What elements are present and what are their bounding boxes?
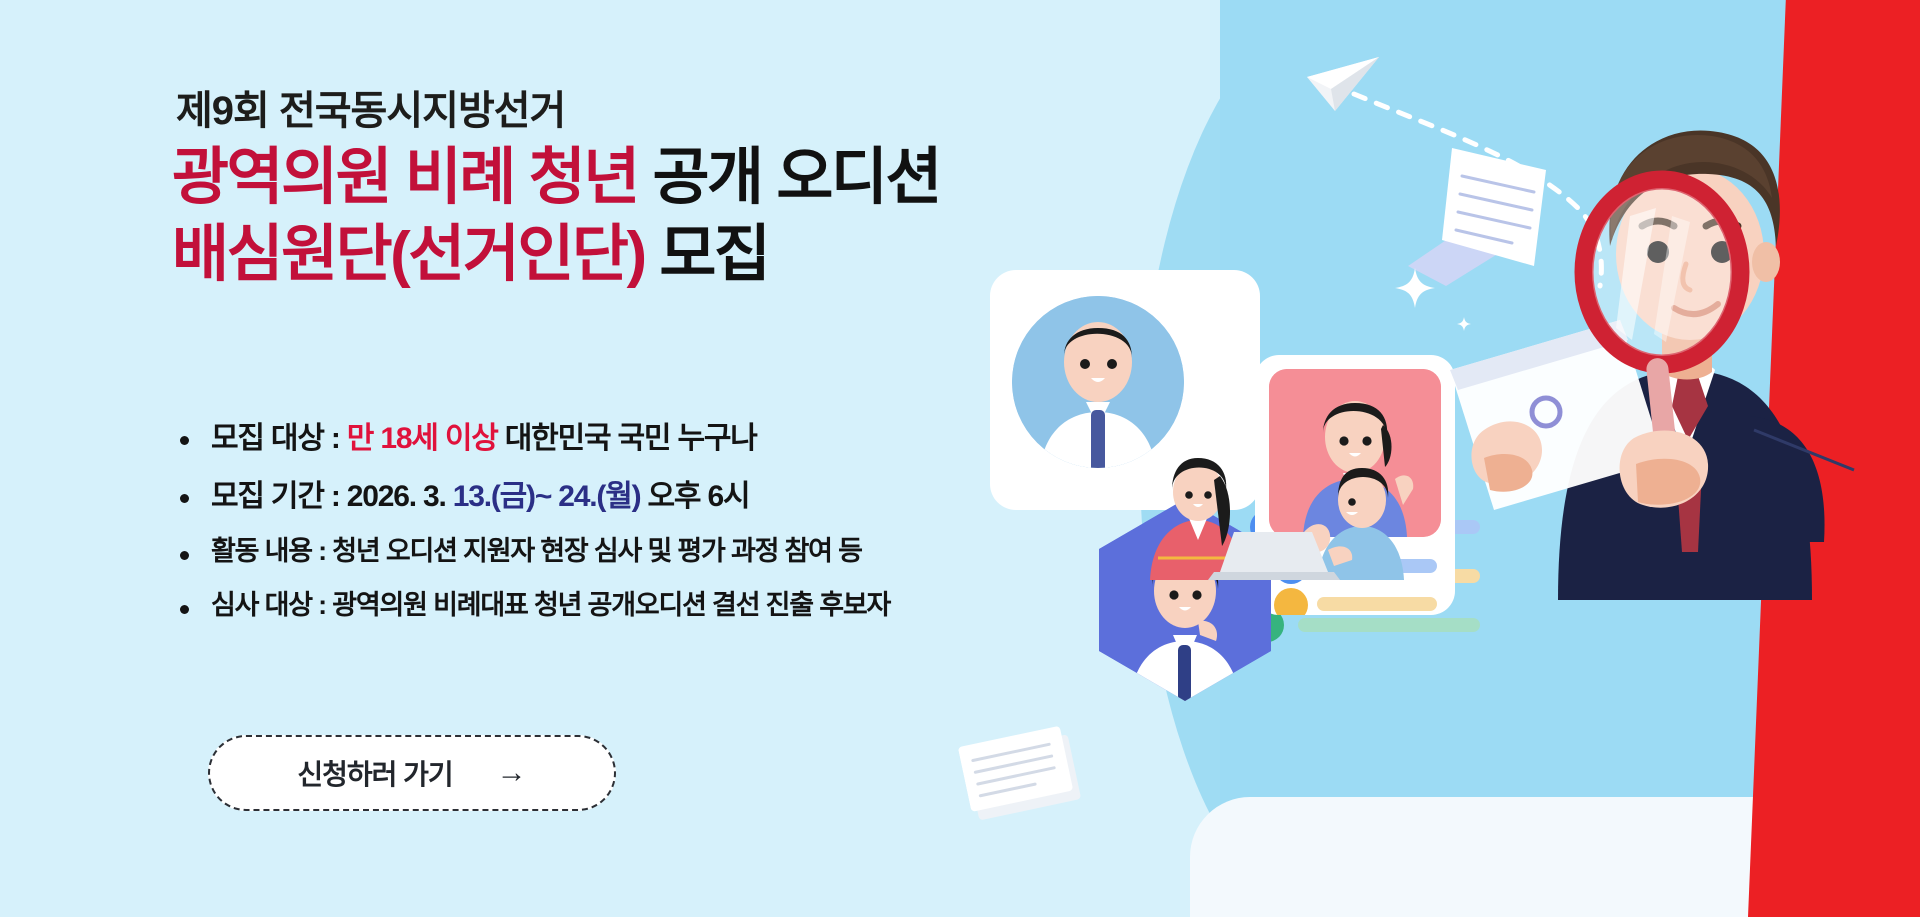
- bullet-dot-icon: [180, 605, 189, 614]
- list-item-highlight: 13.(금)~ 24.(월): [453, 480, 641, 513]
- list-item-label: 모집 대상 :: [211, 422, 347, 455]
- list-item-label: 모집 기간 : 2026. 3.: [211, 480, 453, 513]
- bullet-dot-icon: [180, 436, 189, 445]
- list-item-tail: 오후 6시: [640, 480, 749, 513]
- arrow-right-icon: →: [497, 758, 527, 788]
- list-item-tail: 대한민국 국민 누구나: [498, 422, 757, 455]
- text-content: 제9회 전국동시지방선거 광역의원 비례 청년 공개 오디션 배심원단(선거인단…: [0, 0, 1060, 917]
- apply-button-label: 신청하러 가기: [297, 753, 452, 793]
- headline-line-2-black: 모집: [659, 220, 768, 289]
- list-item-text: 모집 기간 : 2026. 3. 13.(금)~ 24.(월) 오후 6시: [211, 478, 749, 516]
- headline-line-1: 광역의원 비례 청년 공개 오디션: [172, 140, 1072, 217]
- bullet-dot-icon: [180, 551, 189, 560]
- headline-line-1-black: 공개 오디션: [653, 143, 940, 212]
- list-item: 심사 대상 : 광역의원 비례대표 청년 공개오디션 결선 진출 후보자: [176, 589, 1056, 623]
- apply-button[interactable]: 신청하러 가기 →: [208, 735, 616, 811]
- progress-bar-green: [1298, 618, 1480, 632]
- list-item-highlight: 만 18세 이상: [347, 422, 498, 455]
- illustration-group: [1000, 0, 1920, 917]
- headline-line-2-red: 배심원단(선거인단): [172, 220, 645, 289]
- page-title: 광역의원 비례 청년 공개 오디션 배심원단(선거인단) 모집: [172, 140, 1072, 294]
- bullet-dot-icon: [180, 494, 189, 503]
- list-item: 모집 기간 : 2026. 3. 13.(금)~ 24.(월) 오후 6시: [176, 478, 1056, 516]
- list-item-text: 모집 대상 : 만 18세 이상 대한민국 국민 누구나: [211, 420, 757, 458]
- details-list: 모집 대상 : 만 18세 이상 대한민국 국민 누구나 모집 기간 : 202…: [176, 420, 1056, 643]
- headline-line-1-red: 광역의원 비례 청년: [172, 143, 638, 212]
- list-item-text: 심사 대상 : 광역의원 비례대표 청년 공개오디션 결선 진출 후보자: [211, 589, 890, 623]
- list-item-text: 활동 내용 : 청년 오디션 지원자 현장 심사 및 평가 과정 참여 등: [211, 535, 862, 569]
- list-item: 모집 대상 : 만 18세 이상 대한민국 국민 누구나: [176, 420, 1056, 458]
- sparkle-icon: [1395, 268, 1435, 308]
- headline-line-2: 배심원단(선거인단) 모집: [172, 217, 1072, 294]
- laptop-discussion: [1130, 400, 1410, 580]
- eyebrow-text: 제9회 전국동시지방선거: [176, 78, 565, 136]
- businessman-with-magnifier: [1450, 40, 1920, 600]
- promo-banner: 제9회 전국동시지방선거 광역의원 비례 청년 공개 오디션 배심원단(선거인단…: [0, 0, 1920, 917]
- list-item: 활동 내용 : 청년 오디션 지원자 현장 심사 및 평가 과정 참여 등: [176, 535, 1056, 569]
